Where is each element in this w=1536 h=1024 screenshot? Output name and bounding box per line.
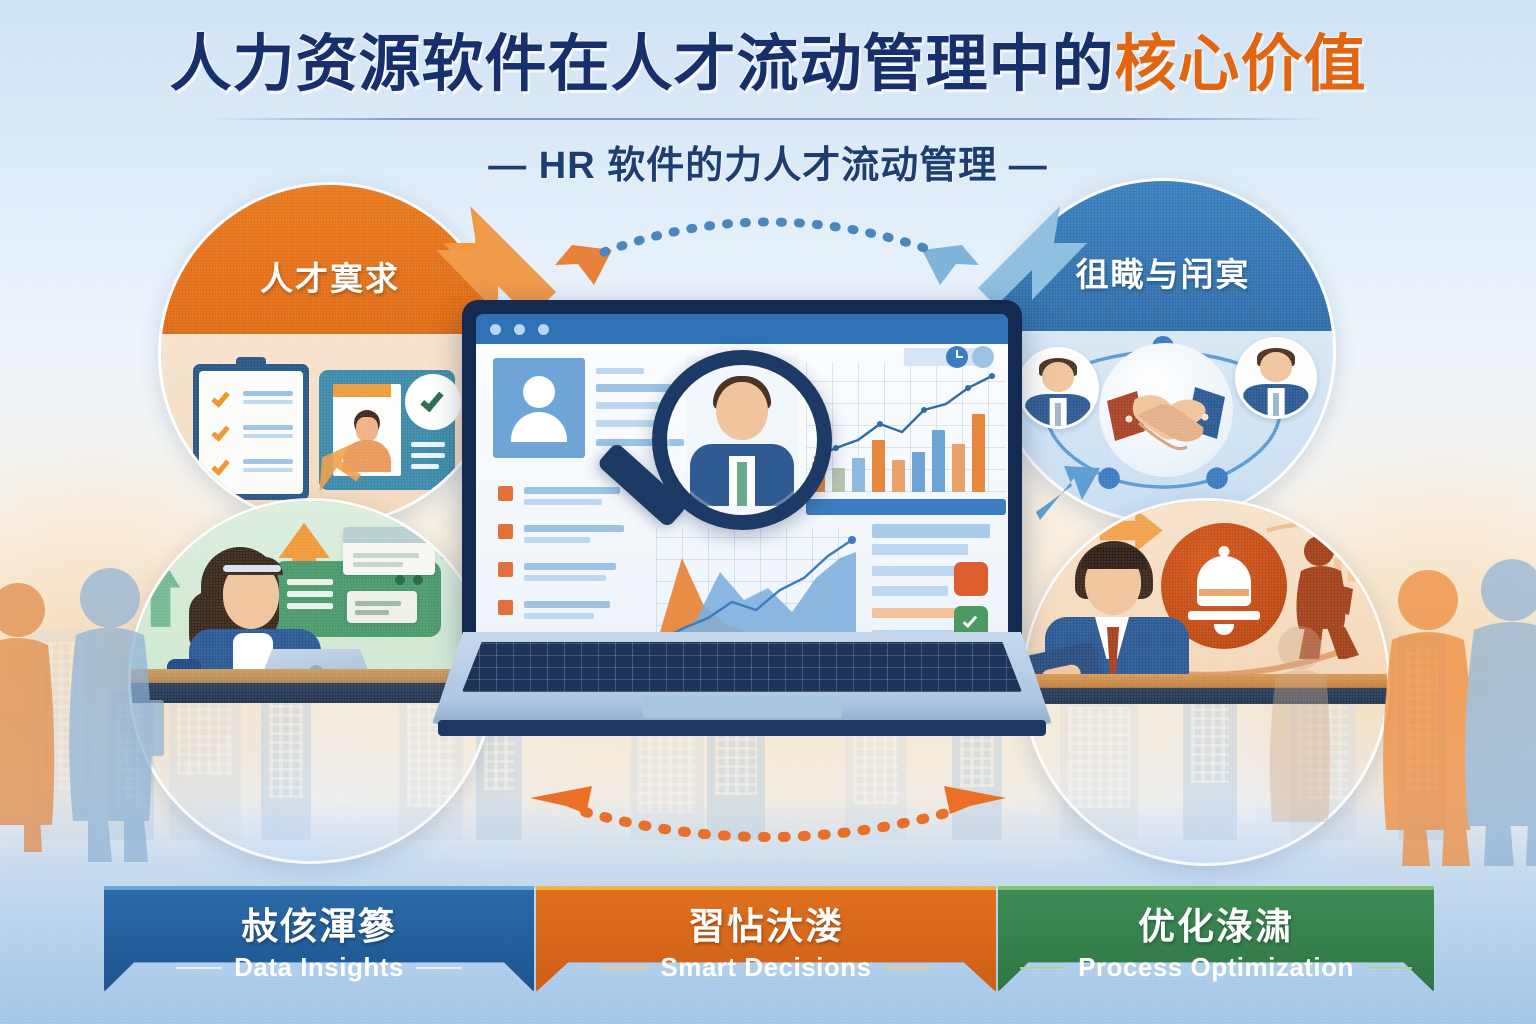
list-line <box>524 575 606 581</box>
check-icon <box>211 456 230 475</box>
banner-title-cn: 敊侅渾篸 <box>104 896 534 950</box>
document-icon <box>343 527 435 575</box>
clipboard-checklist-icon <box>193 364 309 500</box>
profile-line <box>596 420 656 427</box>
banner-en-label: Smart Decisions <box>660 952 871 983</box>
handshake-icon <box>1099 343 1233 477</box>
alert-badge[interactable] <box>954 562 988 596</box>
list-marker <box>498 486 513 501</box>
laptop-lid <box>462 300 1022 660</box>
card-line <box>355 601 401 606</box>
status-dot <box>395 575 405 585</box>
avatar-body <box>511 412 567 442</box>
status-line <box>872 608 956 618</box>
banner-title-en: Smart Decisions <box>536 952 996 983</box>
list-line <box>524 563 616 570</box>
page-title-accent: 核心价值 <box>1115 30 1367 99</box>
list-line <box>524 487 620 494</box>
banner-text: 習怗汏溇 Smart Decisions <box>536 896 996 983</box>
id-avatar-face <box>356 417 378 441</box>
banner-title-cn: 优化淥㴋 <box>998 896 1434 950</box>
employee-profile-card[interactable] <box>493 358 585 458</box>
laptop-base <box>432 632 1052 724</box>
banner-title-en: Process Optimization <box>998 952 1434 983</box>
section-divider-bar <box>806 499 1006 515</box>
banner-top-stripe <box>104 886 534 890</box>
person-avatar-icon <box>1235 337 1317 419</box>
laptop-keyboard[interactable] <box>462 642 1022 692</box>
card-line <box>355 610 389 615</box>
hr-dashboard-laptop[interactable] <box>432 300 1052 770</box>
page-subtitle: — HR 软件的力人才流动管理 — <box>0 134 1536 189</box>
bell-band <box>1199 589 1249 596</box>
banner-rule-right <box>416 967 462 969</box>
status-dot <box>413 575 423 585</box>
banner-data-insights[interactable]: 敊侅渾篸 Data Insights <box>104 886 534 992</box>
laptop-base-edge <box>438 720 1046 736</box>
list-line <box>243 459 293 464</box>
banner-title-cn: 習怗汏溇 <box>536 896 996 950</box>
list-line <box>243 400 293 404</box>
floor-surface <box>1025 674 1387 704</box>
trend-line <box>806 362 1006 492</box>
avatar-tie <box>1055 403 1061 426</box>
banner-top-stripe <box>998 886 1434 890</box>
area-trend-chart <box>656 528 856 646</box>
banner-en-label: Process Optimization <box>1078 952 1354 983</box>
chart-header-pill <box>904 348 982 366</box>
window-titlebar <box>476 314 1008 344</box>
avatar-tie <box>1273 393 1279 416</box>
banner-rule-right <box>884 967 930 969</box>
banner-rule-left <box>602 967 648 969</box>
list-marker <box>498 562 513 577</box>
id-avatar-body <box>343 440 391 472</box>
page-header: 人力资源软件在人才流动管理中的核心价值 — HR 软件的力人才流动管理 — <box>0 34 1536 189</box>
doc-line <box>353 553 419 558</box>
page-title: 人力资源软件在人才流动管理中的核心价值 <box>0 34 1536 96</box>
quadrant-retention-alerts[interactable]: 羮盹渟暜 柂劢人才虡㚣 <box>1022 498 1390 866</box>
list-line <box>524 537 590 543</box>
bell-clapper <box>1214 624 1234 635</box>
titlebar-dot[interactable] <box>514 324 525 335</box>
quadrant-title: 徂睵与闬㝠 <box>1076 222 1251 296</box>
clock-icon <box>946 346 968 368</box>
dashboard-screen <box>476 344 1008 646</box>
list-line <box>243 468 293 472</box>
infographic-canvas: 人力资源软件在人才流动管理中的核心价值 — HR 软件的力人才流动管理 — <box>0 0 1536 1024</box>
card-inner <box>347 591 417 623</box>
headband-icon <box>223 565 281 572</box>
banner-title-en: Data Insights <box>104 952 534 983</box>
avatar-head <box>523 376 555 408</box>
banner-top-stripe <box>536 886 996 890</box>
candidate-magnifier[interactable] <box>652 350 832 530</box>
list-marker <box>498 524 513 539</box>
user-icon <box>972 346 994 368</box>
list-line <box>243 425 293 430</box>
banner-rule-left <box>1020 967 1066 969</box>
avatar-head <box>1260 352 1292 382</box>
status-line <box>872 544 968 555</box>
titlebar-dot[interactable] <box>538 324 549 335</box>
laptop-trackpad[interactable] <box>642 696 842 718</box>
banner-text: 优化淥㴋 Process Optimization <box>998 896 1434 983</box>
walking-person-icon <box>1287 535 1365 659</box>
quadrant-title: 人才寞求 <box>260 226 400 300</box>
check-icon <box>963 613 978 628</box>
banner-rule-right <box>1366 967 1412 969</box>
banner-rule-left <box>176 967 222 969</box>
doc-header <box>343 527 435 543</box>
page-title-main: 人力资源软件在人才流动管理中的 <box>169 30 1114 99</box>
title-divider <box>208 118 1328 120</box>
profile-line <box>596 368 644 374</box>
check-icon <box>211 422 230 441</box>
status-line <box>872 586 948 596</box>
list-line <box>243 391 293 396</box>
banner-smart-decisions[interactable]: 習怗汏溇 Smart Decisions <box>536 886 996 992</box>
status-line <box>872 524 990 538</box>
person-fringe <box>1081 547 1147 569</box>
list-line <box>243 434 293 438</box>
laptop-bezel <box>476 314 1008 646</box>
id-photo <box>333 384 401 476</box>
list-line <box>524 525 624 532</box>
id-card-header <box>333 384 391 397</box>
bell-body <box>1197 556 1251 606</box>
quadrant-illustration <box>1025 501 1387 704</box>
check-icon <box>211 388 230 407</box>
banner-process-optimization[interactable]: 优化淥㴋 Process Optimization <box>998 886 1434 992</box>
banner-text: 敊侅渾篸 Data Insights <box>104 896 534 983</box>
banner-en-label: Data Insights <box>234 952 404 983</box>
list-line <box>524 499 602 505</box>
doc-line <box>353 562 403 567</box>
bar-line-combo-chart <box>806 362 1006 492</box>
list-line <box>524 613 594 619</box>
list-marker <box>498 600 513 615</box>
clipboard-page <box>199 371 303 494</box>
clipboard-clip-icon <box>236 357 266 370</box>
list-line <box>524 601 610 608</box>
titlebar-dot[interactable] <box>490 324 501 335</box>
